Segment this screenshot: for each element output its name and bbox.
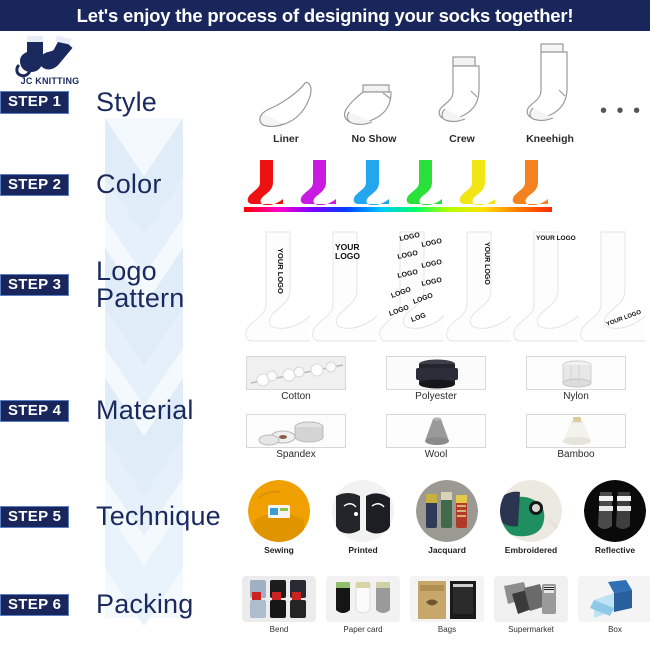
technique-option-reflective[interactable]: Reflective bbox=[576, 480, 650, 555]
style-label-liner: Liner bbox=[242, 133, 330, 145]
content-technique: Sewing Printed bbox=[236, 474, 650, 560]
logo-sock-list: YOUR LOGO YOUR LOGO LOGO LOGO LOGO LOGO … bbox=[236, 224, 650, 346]
svg-text:LOG: LOG bbox=[410, 312, 427, 324]
rainbow-gradient-bar bbox=[244, 207, 552, 212]
material-label-polyester: Polyester bbox=[384, 391, 488, 402]
step-title-packing: Packing bbox=[96, 591, 193, 619]
technique-label-jacquard: Jacquard bbox=[408, 545, 486, 555]
style-label-no-show: No Show bbox=[330, 133, 418, 145]
box-pack-image bbox=[578, 576, 650, 622]
technique-label-sewing: Sewing bbox=[240, 545, 318, 555]
logo-sock-text: YOUR LOGO bbox=[536, 235, 576, 242]
logo-sock-vertical-cuff[interactable]: YOUR LOGO bbox=[244, 228, 310, 346]
packing-label-paper-card: Paper card bbox=[324, 625, 402, 634]
logo-sock-all-over[interactable]: LOGO LOGO LOGO LOGO LOGO LOGO LOGO LOGO … bbox=[378, 228, 444, 346]
label-col-material: STEP 4 Material bbox=[0, 352, 236, 470]
bamboo-cone-image bbox=[526, 414, 626, 448]
embroidered-sock-image bbox=[500, 480, 562, 542]
polyester-spool-image bbox=[386, 356, 486, 390]
logo-sock-side-vertical[interactable]: YOUR LOGO bbox=[445, 228, 511, 346]
material-option-spandex[interactable]: Spandex bbox=[244, 414, 348, 466]
row-logo-pattern: STEP 3 Logo Pattern YOUR LOGO YOUR LOGO bbox=[0, 224, 650, 346]
spandex-reel-image bbox=[246, 414, 346, 448]
technique-option-sewing[interactable]: Sewing bbox=[240, 480, 318, 555]
sewing-label-image bbox=[248, 480, 310, 542]
supermarket-pack-image bbox=[494, 576, 568, 622]
material-option-nylon[interactable]: Nylon bbox=[524, 356, 628, 408]
material-option-wool[interactable]: Wool bbox=[384, 414, 488, 466]
style-label-kneehigh: Kneehigh bbox=[506, 133, 594, 145]
brand-name: JC KNITTING bbox=[21, 76, 80, 86]
technique-label-embroidered: Embroidered bbox=[492, 545, 570, 555]
nylon-spool-image bbox=[526, 356, 626, 390]
no-show-sock-icon bbox=[339, 71, 409, 127]
technique-label-printed: Printed bbox=[324, 545, 402, 555]
socks-logo-icon bbox=[13, 34, 87, 78]
style-option-crew[interactable]: Crew bbox=[418, 55, 506, 145]
step-badge-6[interactable]: STEP 6 bbox=[0, 594, 69, 617]
color-sock-yellow[interactable] bbox=[458, 159, 502, 205]
packing-label-bend: Bend bbox=[240, 625, 318, 634]
step-title-style: Style bbox=[96, 89, 157, 117]
content-packing: Bend Paper card bbox=[236, 566, 650, 644]
content-style: Liner No Show bbox=[236, 60, 650, 145]
logo-sock-top-cuff[interactable]: YOUR LOGO bbox=[512, 228, 578, 346]
row-color: STEP 2 Color bbox=[0, 152, 650, 218]
content-logo-pattern: YOUR LOGO YOUR LOGO LOGO LOGO LOGO LOGO … bbox=[236, 224, 650, 346]
packing-option-supermarket[interactable]: Supermarket bbox=[492, 576, 570, 634]
wool-cone-image bbox=[386, 414, 486, 448]
row-style: STEP 1 Style Liner bbox=[0, 60, 650, 145]
style-option-no-show[interactable]: No Show bbox=[330, 71, 418, 145]
material-label-bamboo: Bamboo bbox=[524, 449, 628, 460]
step-title-material: Material bbox=[96, 397, 194, 425]
label-col-color: STEP 2 Color bbox=[0, 152, 236, 218]
material-option-polyester[interactable]: Polyester bbox=[384, 356, 488, 408]
color-sock-orange[interactable] bbox=[511, 159, 555, 205]
infographic-page: Let's enjoy the process of designing you… bbox=[0, 0, 650, 650]
color-sock-red[interactable] bbox=[246, 159, 290, 205]
style-label-crew: Crew bbox=[418, 133, 506, 145]
row-packing: STEP 6 Packing bbox=[0, 566, 650, 644]
printed-socks-image bbox=[332, 480, 394, 542]
technique-list: Sewing Printed bbox=[236, 474, 650, 560]
packing-option-bend[interactable]: Bend bbox=[240, 576, 318, 634]
label-col-technique: STEP 5 Technique bbox=[0, 474, 236, 560]
brand-logo: JC KNITTING bbox=[4, 34, 96, 92]
page-header: Let's enjoy the process of designing you… bbox=[0, 0, 650, 31]
step-title-logo-line1: Logo bbox=[96, 258, 184, 285]
reflective-socks-image bbox=[584, 480, 646, 542]
packing-label-supermarket: Supermarket bbox=[492, 625, 570, 634]
color-sock-green[interactable] bbox=[405, 159, 449, 205]
packing-option-box[interactable]: Box bbox=[576, 576, 650, 634]
logo-sock-foot-side[interactable]: YOUR LOGO bbox=[579, 228, 645, 346]
step-title-color: Color bbox=[96, 171, 162, 199]
bags-pack-image bbox=[410, 576, 484, 622]
step-badge-5[interactable]: STEP 5 bbox=[0, 506, 69, 529]
color-sock-blue[interactable] bbox=[352, 159, 396, 205]
style-more-ellipsis[interactable]: • • • bbox=[600, 100, 642, 145]
step-title-logo-line2: Pattern bbox=[96, 285, 184, 312]
crew-sock-icon bbox=[427, 55, 497, 127]
technique-label-reflective: Reflective bbox=[576, 545, 650, 555]
logo-sock-text: YOUR LOGO bbox=[483, 242, 490, 285]
color-swatch-list bbox=[240, 159, 650, 205]
jacquard-socks-image bbox=[416, 480, 478, 542]
row-material: STEP 4 Material bbox=[0, 352, 650, 470]
step-badge-2[interactable]: STEP 2 bbox=[0, 174, 69, 197]
kneehigh-sock-icon bbox=[515, 43, 585, 127]
logo-sock-text-line2: LOGO bbox=[335, 251, 360, 261]
technique-option-jacquard[interactable]: Jacquard bbox=[408, 480, 486, 555]
material-option-cotton[interactable]: Cotton bbox=[244, 356, 348, 408]
page-title: Let's enjoy the process of designing you… bbox=[77, 5, 574, 27]
technique-option-printed[interactable]: Printed bbox=[324, 480, 402, 555]
liner-sock-icon bbox=[251, 71, 321, 127]
packing-option-paper-card[interactable]: Paper card bbox=[324, 576, 402, 634]
technique-option-embroidered[interactable]: Embroidered bbox=[492, 480, 570, 555]
logo-sock-text: YOUR LOGO bbox=[276, 248, 285, 294]
color-sock-magenta[interactable] bbox=[299, 159, 343, 205]
paper-card-pack-image bbox=[326, 576, 400, 622]
label-col-packing: STEP 6 Packing bbox=[0, 566, 236, 644]
label-col-logo: STEP 3 Logo Pattern bbox=[0, 224, 236, 346]
material-label-cotton: Cotton bbox=[244, 391, 348, 402]
packing-list: Bend Paper card bbox=[236, 566, 650, 644]
style-option-liner[interactable]: Liner bbox=[242, 71, 330, 145]
material-grid: Cotton Polyester bbox=[236, 352, 650, 466]
step-badge-1[interactable]: STEP 1 bbox=[0, 91, 69, 114]
material-option-bamboo[interactable]: Bamboo bbox=[524, 414, 628, 466]
cotton-boll-image bbox=[246, 356, 346, 390]
step-badge-3[interactable]: STEP 3 bbox=[0, 274, 69, 297]
content-color bbox=[236, 152, 650, 218]
content-material: Cotton Polyester bbox=[236, 352, 650, 470]
row-technique: STEP 5 Technique Se bbox=[0, 474, 650, 560]
style-option-kneehigh[interactable]: Kneehigh bbox=[506, 43, 594, 145]
material-label-spandex: Spandex bbox=[244, 449, 348, 460]
material-label-wool: Wool bbox=[384, 449, 488, 460]
packing-label-box: Box bbox=[576, 625, 650, 634]
logo-sock-front-cuff[interactable]: YOUR LOGO bbox=[311, 228, 377, 346]
bend-pack-image bbox=[242, 576, 316, 622]
step-title-technique: Technique bbox=[96, 503, 221, 531]
material-label-nylon: Nylon bbox=[524, 391, 628, 402]
step-badge-4[interactable]: STEP 4 bbox=[0, 400, 69, 423]
step-title-logo-pattern: Logo Pattern bbox=[96, 258, 184, 312]
packing-label-bags: Bags bbox=[408, 625, 486, 634]
packing-option-bags[interactable]: Bags bbox=[408, 576, 486, 634]
